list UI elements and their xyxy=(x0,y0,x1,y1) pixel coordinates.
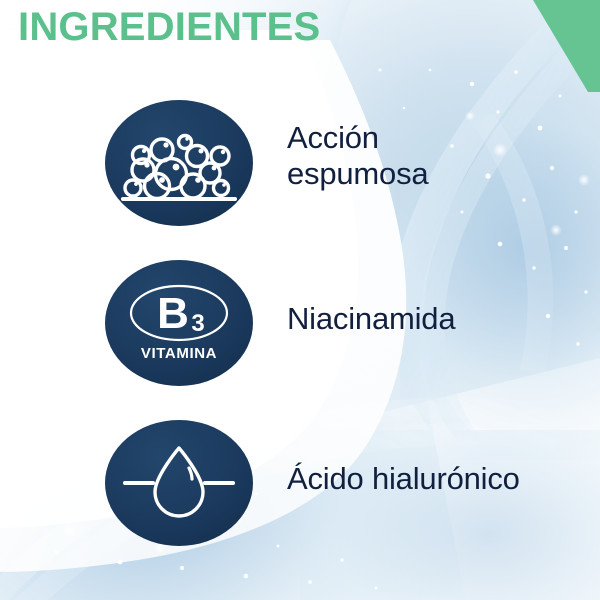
ingredient-label-hyaluronic-acid: Ácido hialurónico xyxy=(287,461,520,497)
ingredient-row-foam: Acción espumosa xyxy=(0,88,600,238)
vitamin-b3-caption: VITAMINA xyxy=(141,345,217,362)
ingredient-row-niacinamide: B 3 VITAMINA Niacinamida xyxy=(0,248,600,398)
ingredient-label-niacinamide: Niacinamida xyxy=(287,301,455,337)
ingredients-poster: INGREDIENTES xyxy=(0,0,600,600)
water-droplet-icon xyxy=(105,418,253,548)
vitamin-b3-icon: B 3 VITAMINA xyxy=(105,258,253,388)
foam-bubbles-icon xyxy=(105,98,253,228)
ingredient-row-hyaluronic-acid: Ácido hialurónico xyxy=(0,408,600,558)
vitamin-b3-subscript: 3 xyxy=(191,310,204,337)
ingredients-list: Acción espumosa B 3 VIT xyxy=(0,0,600,600)
ingredient-label-foam: Acción espumosa xyxy=(287,120,428,192)
vitamin-b3-letter: B xyxy=(157,289,189,338)
